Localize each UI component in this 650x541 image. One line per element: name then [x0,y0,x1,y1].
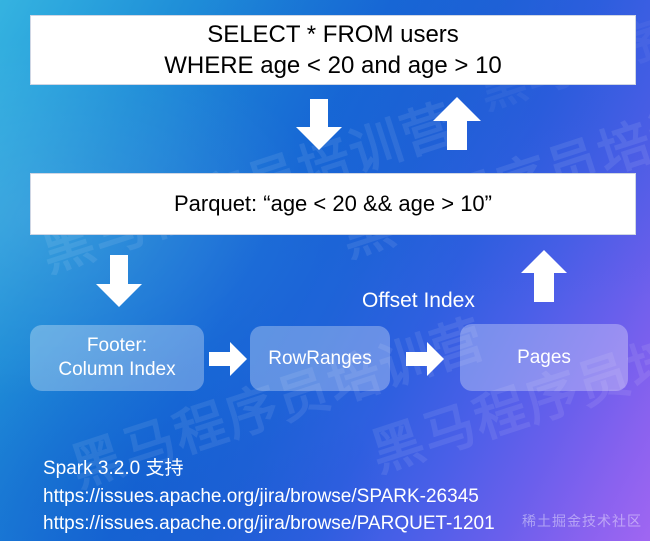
arrow-up-icon [521,250,567,302]
flow-box-footer-line-1: Footer: [58,334,175,358]
flow-box-pages-line-1: Pages [517,346,571,370]
sql-query-line-2: WHERE age < 20 and age > 10 [164,50,502,81]
arrow-up-icon [433,97,481,150]
arrow-down-icon [296,99,342,150]
arrow-down-icon [96,255,142,307]
corner-watermark: 稀土掘金技术社区 [522,511,642,531]
arrow-right-icon [406,342,444,376]
flow-box-pages: Pages [460,324,628,391]
note-spark-jira-link: https://issues.apache.org/jira/browse/SP… [43,483,495,511]
note-spark-version: Spark 3.2.0 支持 [43,455,495,483]
flow-box-rowranges: RowRanges [250,326,390,391]
flow-box-footer-line-2: Column Index [58,358,175,382]
parquet-predicate-box: Parquet: “age < 20 && age > 10” [30,173,636,235]
reference-notes: Spark 3.2.0 支持 https://issues.apache.org… [43,455,495,538]
sql-query-line-1: SELECT * FROM users [164,19,502,50]
sql-query-box: SELECT * FROM users WHERE age < 20 and a… [30,15,636,85]
flow-box-rowranges-line-1: RowRanges [268,347,372,371]
background-watermark: 黑马程序员培训营 [330,66,650,271]
offset-index-label: Offset Index [362,289,475,313]
flow-box-footer-column-index: Footer: Column Index [30,325,204,391]
parquet-predicate-text: Parquet: “age < 20 && age > 10” [174,190,492,219]
arrow-right-icon [209,342,247,376]
slide-canvas: 黑马程序员培训营 黑马程序员培训营 黑马程序员培训营 黑马程序员培训营 黑马程序… [0,0,650,541]
note-parquet-jira-link: https://issues.apache.org/jira/browse/PA… [43,510,495,538]
